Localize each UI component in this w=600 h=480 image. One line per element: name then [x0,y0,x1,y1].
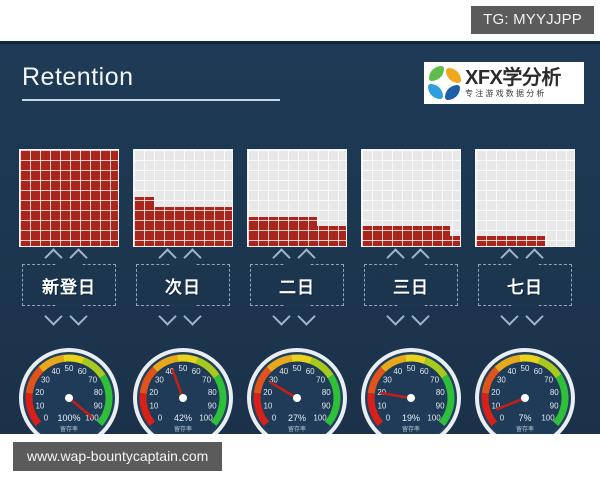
chevron-down-icon [128,308,238,322]
svg-text:19%: 19% [402,413,420,423]
grid-lines [20,150,118,246]
svg-text:20: 20 [35,388,44,397]
chevron-up-icon [14,249,124,263]
svg-text:80: 80 [322,388,331,397]
chevron-up-icon [356,249,466,263]
svg-text:42%: 42% [174,413,192,423]
svg-text:90: 90 [322,401,331,410]
svg-text:90: 90 [436,401,445,410]
grid-lines [476,150,574,246]
period-label-box: 三日 [364,264,458,306]
svg-text:100: 100 [427,413,441,422]
svg-text:100: 100 [313,413,327,422]
chevron-up-icon [242,249,352,263]
svg-text:30: 30 [155,376,164,385]
grid-lines [134,150,232,246]
svg-text:70: 70 [88,376,97,385]
bottom-white-band: www.wap-bountycaptain.com [0,434,600,480]
retention-grid [19,149,119,247]
svg-text:100: 100 [199,413,213,422]
svg-text:40: 40 [51,367,60,376]
svg-text:留存率: 留存率 [288,425,306,433]
gauge-widget: 010203040506070809010027%留存率 [242,346,352,434]
retention-column: 三日 [356,149,466,322]
retention-grid [475,149,575,247]
svg-text:60: 60 [306,367,315,376]
svg-text:90: 90 [94,401,103,410]
period-label: 三日 [393,273,429,298]
svg-text:10: 10 [263,401,272,410]
gauge-widget: 010203040506070809010019%留存率 [356,346,466,434]
svg-text:60: 60 [192,367,201,376]
gauge-widget: 0102030405060708090100100%留存率 [14,346,124,434]
chevron-down-icon [242,308,352,322]
period-label-box: 次日 [136,264,230,306]
svg-text:0: 0 [500,413,505,422]
retention-grid [361,149,461,247]
telegram-tag: TG: MYYJJPP [471,6,594,34]
chevron-up-icon [128,249,238,263]
svg-text:10: 10 [377,401,386,410]
svg-text:90: 90 [550,401,559,410]
svg-text:留存率: 留存率 [402,425,420,433]
top-white-band: TG: MYYJJPP [0,0,600,41]
svg-text:30: 30 [497,376,506,385]
svg-text:10: 10 [35,401,44,410]
gauge-widget: 01020304050607080901007%留存率 [470,346,580,434]
gauge-dial: 01020304050607080901007%留存率 [473,346,577,434]
svg-text:80: 80 [550,388,559,397]
site-url-tag: www.wap-bountycaptain.com [13,442,222,471]
retention-slide: Retention XFX学分析 专注游戏数据分析 新登日次日二日三日七日 01… [0,41,600,434]
retention-grid [133,149,233,247]
svg-text:80: 80 [208,388,217,397]
period-label: 次日 [165,273,201,298]
gauge-dial: 0102030405060708090100100%留存率 [17,346,121,434]
pinwheel-icon [427,65,463,101]
svg-text:留存率: 留存率 [60,425,78,433]
svg-text:60: 60 [78,367,87,376]
period-label-box: 二日 [250,264,344,306]
svg-text:100: 100 [541,413,555,422]
svg-text:0: 0 [44,413,49,422]
svg-text:7%: 7% [518,413,531,423]
svg-text:30: 30 [41,376,50,385]
gauge-dial: 010203040506070809010027%留存率 [245,346,349,434]
retention-column: 二日 [242,149,352,322]
retention-column: 新登日 [14,149,124,322]
svg-text:60: 60 [534,367,543,376]
xfx-logo: XFX学分析 专注游戏数据分析 [424,62,584,104]
svg-text:50: 50 [521,364,530,373]
retention-column: 七日 [470,149,580,322]
svg-text:90: 90 [208,401,217,410]
svg-text:10: 10 [149,401,158,410]
svg-text:40: 40 [393,367,402,376]
gauge-widget: 010203040506070809010042%留存率 [128,346,238,434]
slide-top-edge [0,41,600,44]
svg-text:70: 70 [430,376,439,385]
svg-text:20: 20 [149,388,158,397]
svg-text:留存率: 留存率 [174,425,192,433]
svg-text:0: 0 [386,413,391,422]
grid-lines [248,150,346,246]
svg-text:50: 50 [293,364,302,373]
svg-text:0: 0 [158,413,163,422]
period-label: 二日 [279,273,315,298]
period-label-box: 七日 [478,264,572,306]
retention-column: 次日 [128,149,238,322]
svg-text:70: 70 [202,376,211,385]
svg-text:40: 40 [507,367,516,376]
chevron-down-icon [356,308,466,322]
svg-text:27%: 27% [288,413,306,423]
chevron-down-icon [14,308,124,322]
period-label-box: 新登日 [22,264,116,306]
title-underline [22,99,280,101]
logo-subtitle: 专注游戏数据分析 [465,90,561,98]
svg-text:80: 80 [94,388,103,397]
chevron-down-icon [470,308,580,322]
svg-text:100%: 100% [57,413,80,423]
svg-text:20: 20 [263,388,272,397]
svg-text:60: 60 [420,367,429,376]
period-label: 七日 [507,273,543,298]
chevron-up-icon [470,249,580,263]
logo-title: XFX学分析 [465,68,561,88]
gauge-dial: 010203040506070809010042%留存率 [131,346,235,434]
grid-lines [362,150,460,246]
gauge-dial: 010203040506070809010019%留存率 [359,346,463,434]
retention-grid [247,149,347,247]
svg-text:50: 50 [407,364,416,373]
svg-text:50: 50 [65,364,74,373]
svg-text:50: 50 [179,364,188,373]
svg-text:70: 70 [544,376,553,385]
svg-text:80: 80 [436,388,445,397]
svg-text:40: 40 [279,367,288,376]
svg-text:30: 30 [383,376,392,385]
svg-text:70: 70 [316,376,325,385]
svg-text:留存率: 留存率 [516,425,534,433]
svg-text:20: 20 [491,388,500,397]
svg-text:0: 0 [272,413,277,422]
page-title: Retention [22,63,134,92]
period-label: 新登日 [42,273,96,298]
